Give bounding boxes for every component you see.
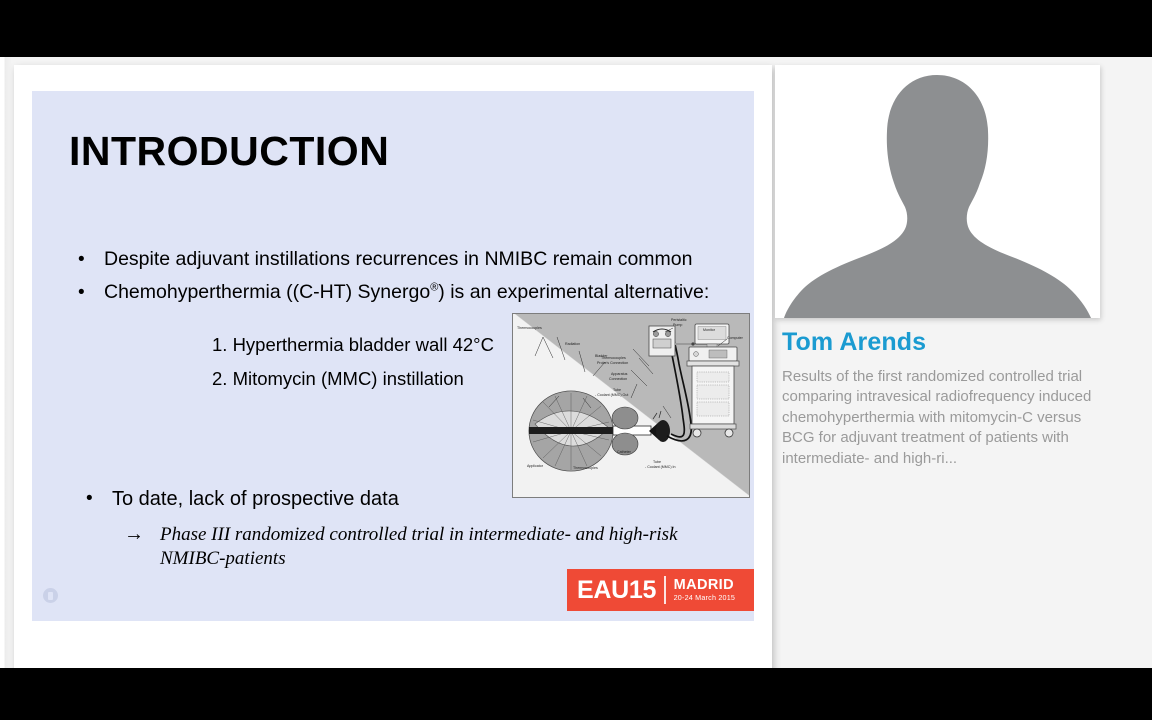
letterbox-bottom [0, 668, 1152, 720]
diagram-label: Tube [613, 388, 621, 392]
diagram-label: Radiation [565, 342, 580, 346]
eau-logo-right-block: MADRID 20-24 March 2015 [674, 578, 736, 602]
screen: INTRODUCTION • Despite adjuvant instilla… [0, 0, 1152, 720]
diagram-label: Catheter [617, 450, 631, 454]
speaker-avatar [775, 65, 1100, 318]
eau-logo-main-text: EAU15 [567, 576, 656, 605]
slide-bullet-list: • Despite adjuvant instillations recurre… [62, 246, 752, 313]
diagram-label: Thermocouples [601, 356, 626, 360]
diagram-label: Apparatus [611, 372, 627, 376]
speaker-name: Tom Arends [782, 328, 926, 357]
diagram-label: Tube [653, 460, 661, 464]
diagram-label: Peristaltic [671, 318, 687, 322]
numbered-item-1: 1. Hyperthermia bladder wall 42°C [212, 334, 494, 356]
page-background: INTRODUCTION • Despite adjuvant instilla… [0, 56, 1152, 668]
bullet-text: Despite adjuvant instillations recurrenc… [104, 248, 693, 270]
slide-card[interactable]: INTRODUCTION • Despite adjuvant instilla… [14, 65, 772, 688]
bullet-text-before: Chemohyperthermia ((C-HT) Synergo [104, 281, 430, 303]
diagram-label: - Coolant (MMC) In [645, 465, 676, 469]
eau15-madrid-logo: EAU15 MADRID 20-24 March 2015 [567, 569, 754, 611]
numbered-list: 1. Hyperthermia bladder wall 42°C 2. Mit… [212, 334, 494, 402]
bullet-text-after: ) is an experimental alternative: [438, 281, 709, 303]
bullet-item-1: • Despite adjuvant instillations recurre… [62, 246, 752, 272]
arrow-sub-bullet-text: Phase III randomized controlled trial in… [160, 524, 678, 569]
diagram-label: Thermocouples [573, 466, 598, 470]
diagram-label: Probe's Connection [597, 361, 628, 365]
numbered-item-2: 2. Mitomycin (MMC) instillation [212, 368, 494, 390]
bullet-item-2: • Chemohyperthermia ((C-HT) Synergo®) is… [62, 279, 752, 305]
diagram-label: Connection [609, 377, 627, 381]
diagram-label: Applicator [527, 464, 543, 468]
slide-title: INTRODUCTION [69, 128, 389, 175]
bullet-marker: • [86, 488, 93, 510]
diagram-artwork [513, 314, 750, 498]
arrow-sub-bullet: → Phase III randomized controlled trial … [124, 523, 724, 572]
eau-logo-dates: 20-24 March 2015 [674, 594, 736, 602]
slide-watermark-icon [43, 588, 58, 603]
slide-canvas: INTRODUCTION • Despite adjuvant instilla… [32, 91, 754, 621]
bullet-item-3: • To date, lack of prospective data [70, 488, 399, 511]
avatar-placeholder-icon [775, 65, 1100, 318]
synergo-apparatus-diagram: Thermocouples Radiation Bladder Applicat… [512, 313, 750, 498]
letterbox-top [0, 0, 1152, 57]
right-arrow-icon: → [124, 522, 144, 548]
bullet-marker: • [78, 280, 85, 306]
bullet-marker: • [78, 247, 85, 273]
diagram-label: Computer [727, 336, 743, 340]
diagram-label: Thermocouples [517, 326, 542, 330]
page-left-edge [0, 56, 12, 668]
diagram-label: Monitor [703, 328, 715, 332]
bullet-text: To date, lack of prospective data [112, 488, 399, 510]
eau-logo-divider [664, 576, 666, 604]
talk-description: Results of the first randomized controll… [782, 367, 1102, 469]
eau-logo-city: MADRID [674, 578, 736, 593]
diagram-label: - Coolant (MMC) Out [595, 393, 628, 397]
diagram-label: Pump [673, 323, 682, 327]
